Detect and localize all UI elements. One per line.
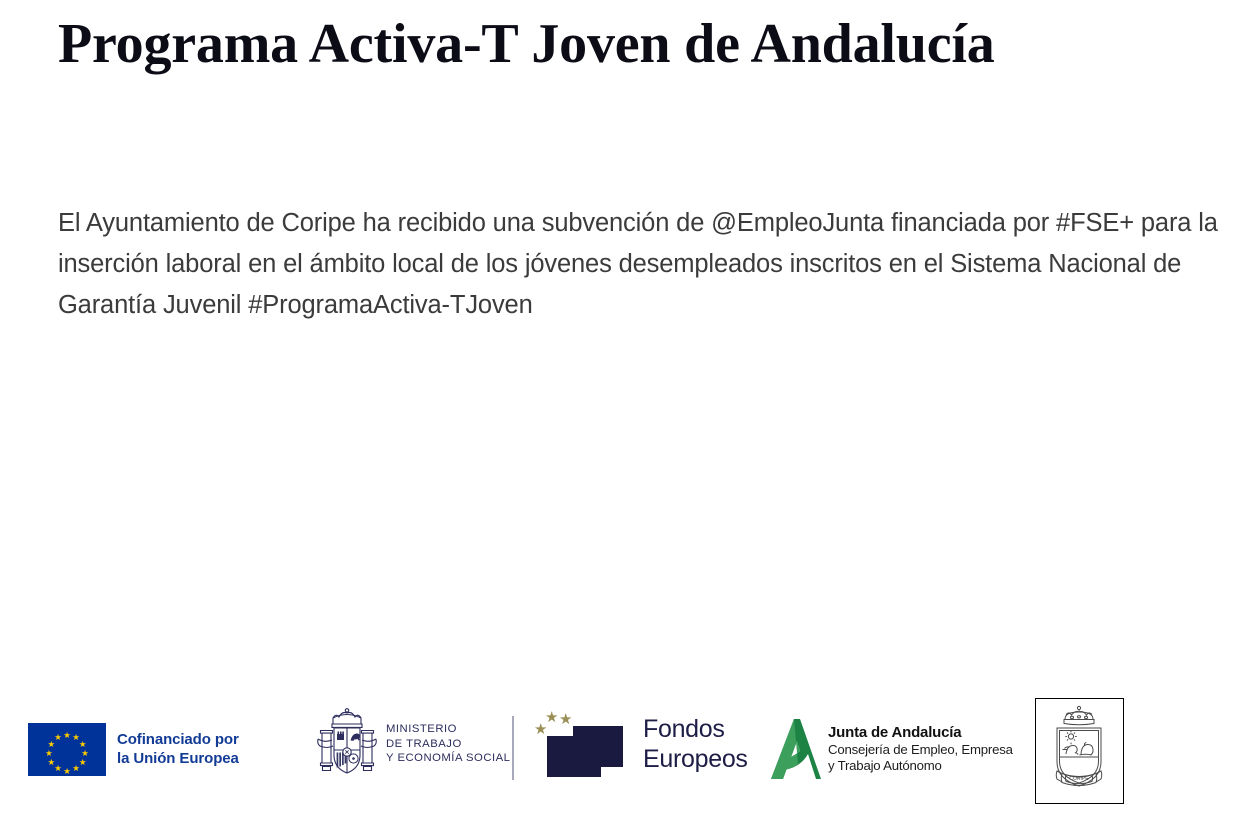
ministerio-line2: DE TRABAJO [386,737,510,752]
eu-caption-line2: la Unión Europea [117,749,239,769]
junta-subtitle: Consejería de Empleo, Empresa y Trabajo … [828,742,1013,775]
junta-subtitle-line2: y Trabajo Autónomo [828,758,1013,775]
logo-divider [512,716,514,780]
eu-caption: Cofinanciado por la Unión Europea [117,730,239,769]
coripe-municipal-coat-of-arms-icon: CORIPE [1036,699,1122,802]
fondos-bar [547,766,601,777]
eu-star: ★ [81,749,90,758]
junta-subtitle-line1: Consejería de Empleo, Empresa [828,742,1013,759]
logo-junta-andalucia: Junta de Andalucía Consejería de Empleo,… [770,716,1013,782]
coripe-banner-text: CORIPE [1069,776,1089,782]
eu-flag-icon: ★ ★ ★ ★ ★ ★ ★ ★ ★ ★ ★ ★ [28,723,106,776]
fondos-star: ★ [559,712,572,727]
logo-ministerio-trabajo: MINISTERIO DE TRABAJO Y ECONOMÍA SOCIAL [316,706,510,782]
junta-andalucia-a-icon [770,718,822,780]
fondos-star: ★ [534,722,547,737]
fondos-europeos-flag-icon: ★ ★ ★ [533,710,637,778]
ministerio-line1: MINISTERIO [386,722,510,737]
eu-star: ★ [78,740,87,749]
body-paragraph: El Ayuntamiento de Coripe ha recibido un… [58,203,1230,326]
fondos-caption-line2: Europeos [643,744,748,774]
fondos-caption-line1: Fondos [643,714,748,744]
ministerio-caption: MINISTERIO DE TRABAJO Y ECONOMÍA SOCIAL [386,722,510,766]
eu-star: ★ [72,764,81,773]
eu-caption-line1: Cofinanciado por [117,730,239,750]
spain-coat-of-arms-icon [316,707,378,781]
logo-fondos-europeos: ★ ★ ★ Fondos Europeos [533,709,748,779]
eu-star: ★ [54,733,63,742]
junta-title: Junta de Andalucía [828,724,1013,742]
junta-caption: Junta de Andalucía Consejería de Empleo,… [828,724,1013,775]
eu-star: ★ [63,767,72,776]
eu-star: ★ [63,731,72,740]
logo-ayuntamiento-coripe: CORIPE [1035,698,1124,804]
eu-star: ★ [44,749,53,758]
ministerio-line3: Y ECONOMÍA SOCIAL [386,751,510,766]
fondos-caption: Fondos Europeos [643,714,748,774]
logo-european-union: ★ ★ ★ ★ ★ ★ ★ ★ ★ ★ ★ ★ Cofinanciado por… [28,722,239,776]
eu-star: ★ [47,758,56,767]
page-title: Programa Activa-T Joven de Andalucía [58,13,1198,75]
